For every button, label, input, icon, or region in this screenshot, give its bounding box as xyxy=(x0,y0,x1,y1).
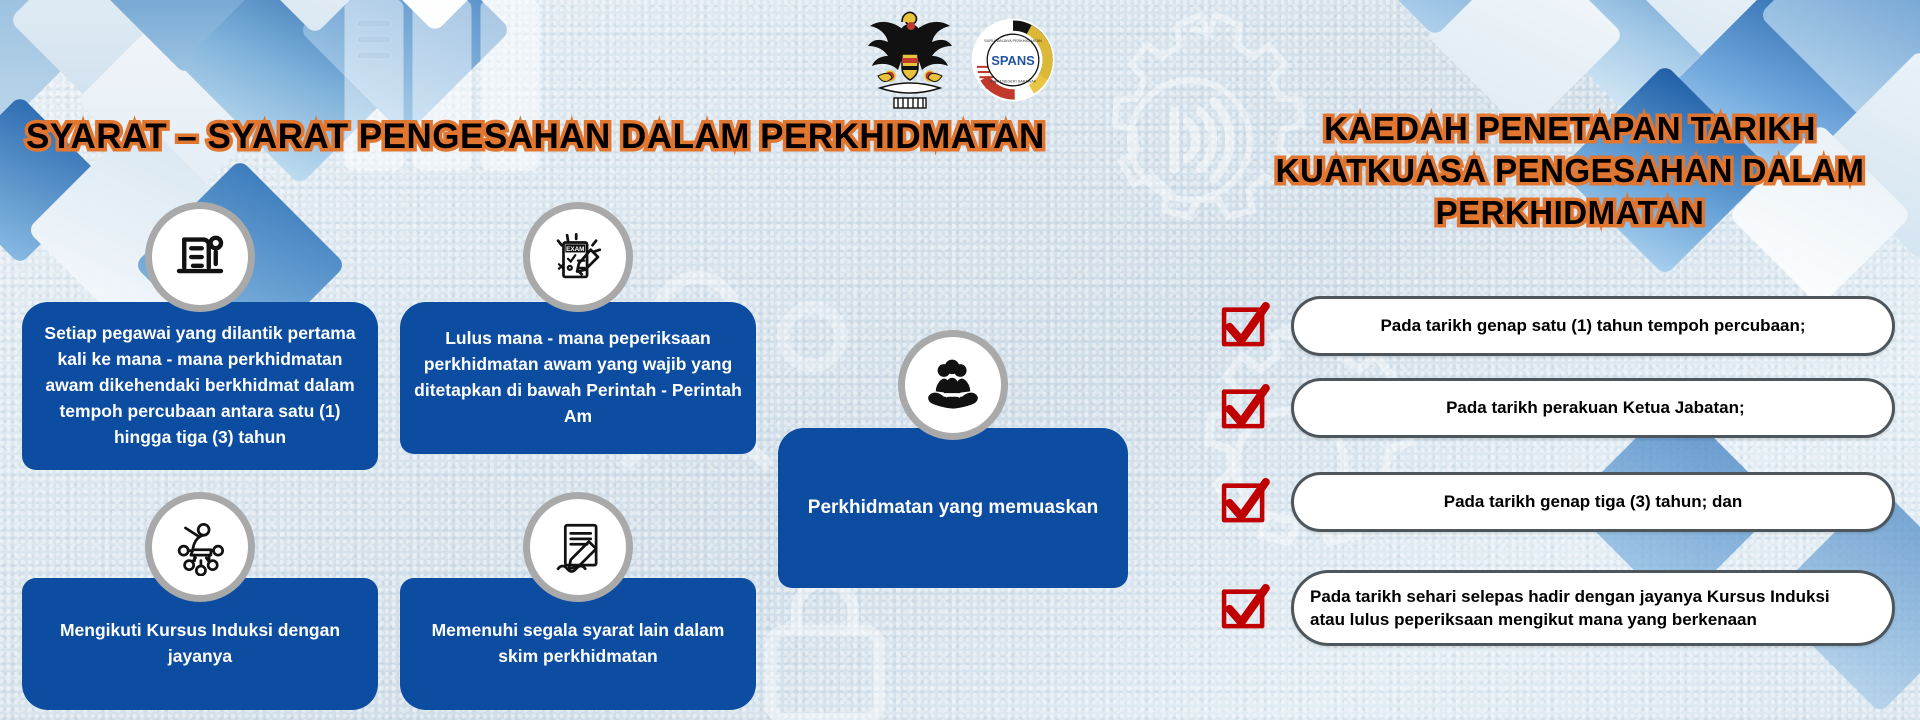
red-checkbox-icon xyxy=(1215,297,1273,355)
method-pill-2[interactable]: Pada tarikh perakuan Ketua Jabatan; xyxy=(1291,378,1895,438)
svg-text:SURUHANJAYA PERKHIDMATAN: SURUHANJAYA PERKHIDMATAN xyxy=(984,39,1042,43)
method-pill-1-text: Pada tarikh genap satu (1) tahun tempoh … xyxy=(1380,314,1805,337)
condition-icon-bubble-4 xyxy=(145,492,255,602)
right-section-title: KAEDAH PENETAPAN TARIKH KUATKUASA PENGES… xyxy=(1240,108,1900,235)
condition-card-3[interactable]: Perkhidmatan yang memuaskan xyxy=(778,428,1128,588)
logo-group: SPANS SURUHANJAYA PERKHIDMATAN AWAM NEGE… xyxy=(864,6,1056,114)
training-course-icon xyxy=(171,518,229,576)
method-pill-2-text: Pada tarikh perakuan Ketua Jabatan; xyxy=(1441,396,1744,419)
red-checkbox-icon xyxy=(1215,579,1273,637)
condition-card-2[interactable]: Lulus mana - mana peperiksaan perkhidmat… xyxy=(400,302,756,454)
method-row-4[interactable]: Pada tarikh sehari selepas hadir dengan … xyxy=(1215,570,1895,646)
method-row-2[interactable]: Pada tarikh perakuan Ketua Jabatan; xyxy=(1215,378,1895,438)
method-pill-3[interactable]: Pada tarikh genap tiga (3) tahun; dan xyxy=(1291,472,1895,532)
condition-icon-bubble-5 xyxy=(523,492,633,602)
condition-card-5-text: Memenuhi segala syarat lain dalam skim p… xyxy=(414,618,742,670)
left-section-title: SYARAT – SYARAT PENGESAHAN DALAM PERKHID… xyxy=(26,115,1045,160)
condition-icon-bubble-2: EXAM xyxy=(523,202,633,312)
method-pill-3-text: Pada tarikh genap tiga (3) tahun; dan xyxy=(1444,490,1742,513)
sarawak-crest-icon xyxy=(864,6,956,114)
method-pill-4-text-line-1: Pada tarikh sehari selepas hadir dengan … xyxy=(1310,585,1830,608)
method-pill-1[interactable]: Pada tarikh genap satu (1) tahun tempoh … xyxy=(1291,296,1895,356)
method-row-3[interactable]: Pada tarikh genap tiga (3) tahun; dan xyxy=(1215,472,1895,532)
spans-logo-icon: SPANS SURUHANJAYA PERKHIDMATAN AWAM NEGE… xyxy=(970,17,1056,103)
condition-icon-bubble-3 xyxy=(898,330,1008,440)
red-checkbox-icon xyxy=(1215,379,1273,437)
condition-card-1[interactable]: Setiap pegawai yang dilantik pertama kal… xyxy=(22,302,378,470)
condition-card-2-text: Lulus mana - mana peperiksaan perkhidmat… xyxy=(414,326,742,430)
method-pill-4[interactable]: Pada tarikh sehari selepas hadir dengan … xyxy=(1291,570,1895,646)
satisfied-service-icon xyxy=(924,358,982,412)
server-rack-line-art xyxy=(335,0,565,190)
right-title-line-1: KAEDAH PENETAPAN TARIKH xyxy=(1240,108,1900,150)
condition-card-1-text: Setiap pegawai yang dilantik pertama kal… xyxy=(36,321,364,450)
condition-card-3-text: Perkhidmatan yang memuaskan xyxy=(808,494,1098,522)
red-checkbox-icon xyxy=(1215,473,1273,531)
svg-text:AWAM NEGERI SARAWAK: AWAM NEGERI SARAWAK xyxy=(990,79,1037,83)
right-title-line-3: PERKHIDMATAN xyxy=(1240,192,1900,234)
condition-icon-bubble-1 xyxy=(145,202,255,312)
svg-text:EXAM: EXAM xyxy=(566,246,584,253)
spans-logo-text: SPANS xyxy=(991,53,1035,68)
method-pill-4-text-line-2: atau lulus peperiksaan mengikut mana yan… xyxy=(1310,608,1757,631)
right-title-line-2: KUATKUASA PENGESAHAN DALAM xyxy=(1240,150,1900,192)
exam-paper-icon: EXAM xyxy=(549,228,607,286)
document-id-icon xyxy=(172,229,228,285)
condition-card-4-text: Mengikuti Kursus Induksi dengan jayanya xyxy=(36,618,364,670)
method-row-1[interactable]: Pada tarikh genap satu (1) tahun tempoh … xyxy=(1215,296,1895,356)
signature-document-icon xyxy=(549,518,607,576)
